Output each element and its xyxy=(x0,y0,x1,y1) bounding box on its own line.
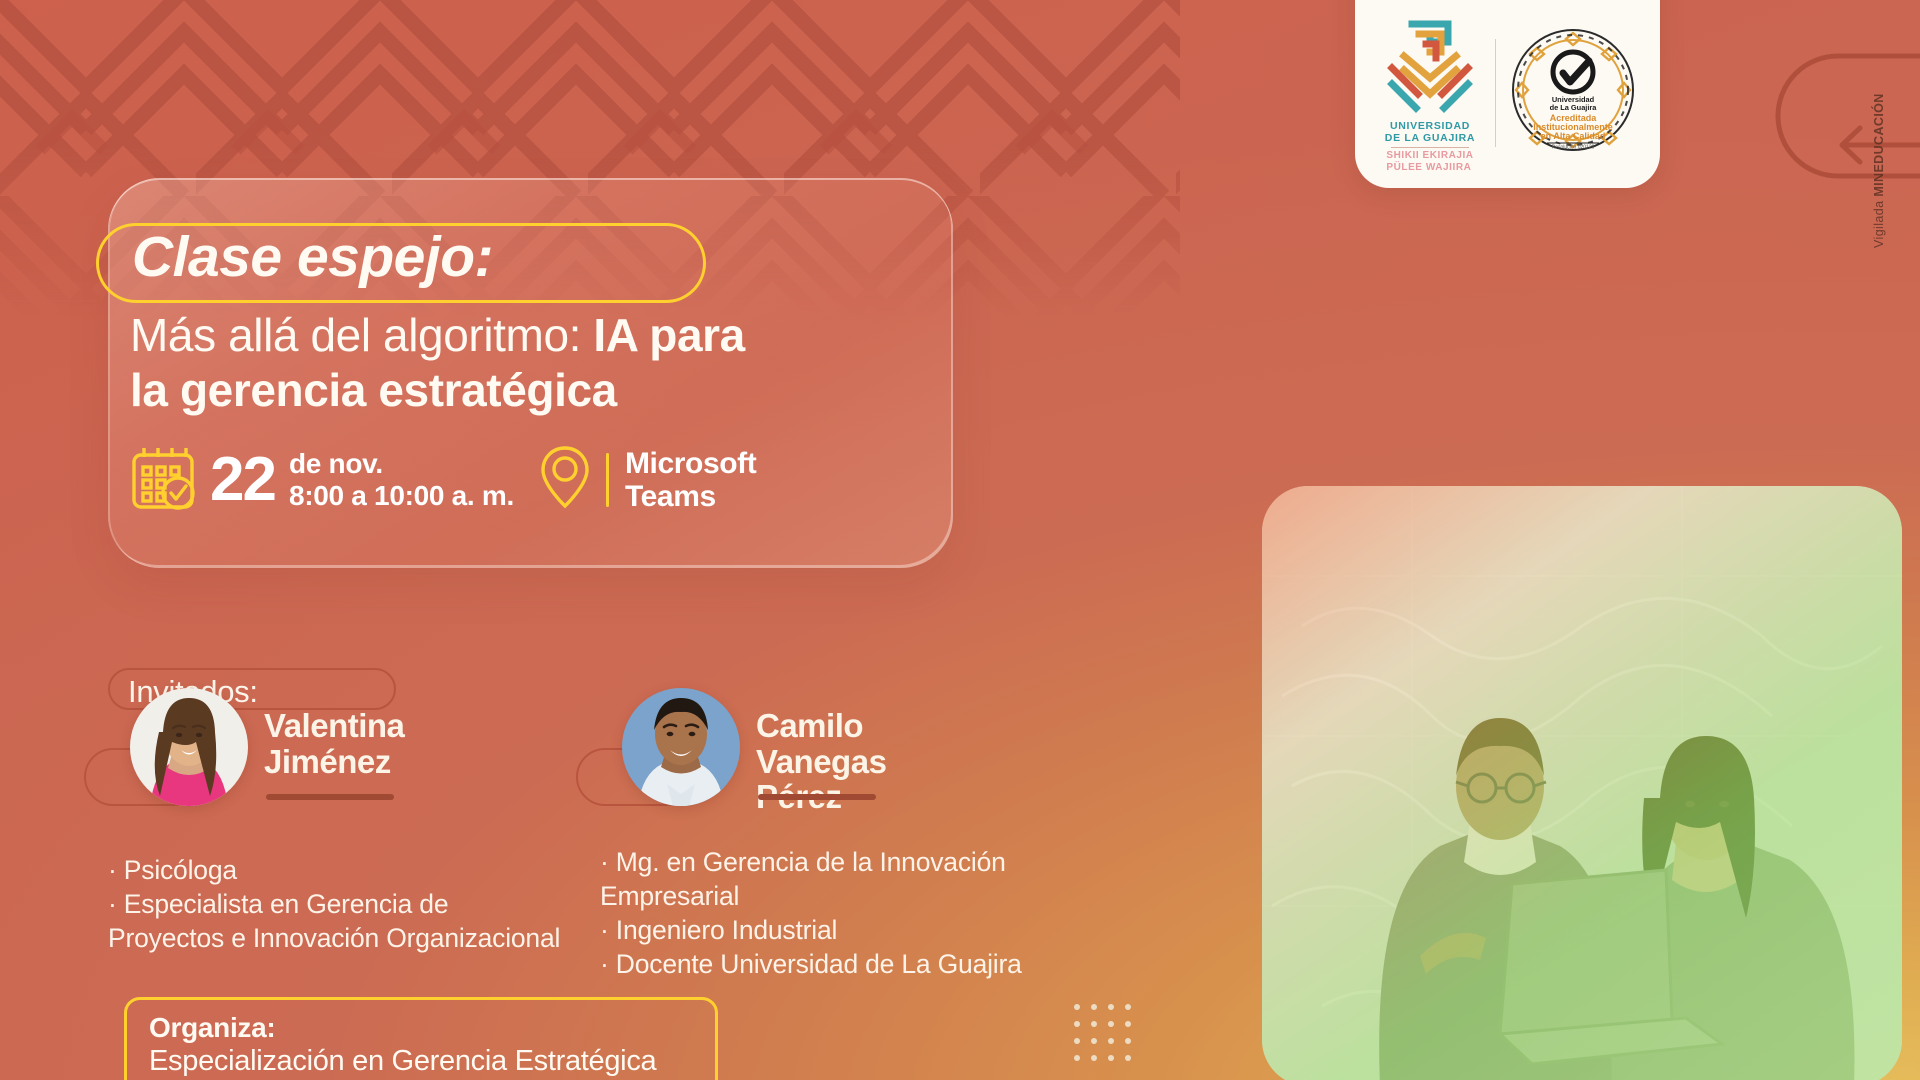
vigilada-main: MINEDUCACIÓN xyxy=(1872,93,1886,196)
speaker2-name-underline xyxy=(758,794,876,800)
place-separator xyxy=(606,453,609,507)
map-pin-icon xyxy=(540,445,590,514)
uniguajira-weave-logo-icon: UNIVERSIDAD DE LA GUAJIRA SHIKII EKIRAJI… xyxy=(1378,12,1482,174)
event-meta-row: 22 de nov. 8:00 a 10:00 a. m. Microsoft … xyxy=(130,443,756,516)
seal-line2: de La Guajira xyxy=(1550,103,1598,112)
speaker2-name-line1: Camilo Vanegas xyxy=(756,708,886,779)
university-name-line2: DE LA GUAJIRA xyxy=(1385,133,1475,145)
event-title-line1: Más allá del algoritmo: IA para xyxy=(130,308,745,362)
speaker1-name-line2: Jiménez xyxy=(264,744,404,780)
event-place-line1: Microsoft xyxy=(625,447,756,480)
speaker1-name-line1: Valentina xyxy=(264,708,404,744)
avatar-valentina-jimenez xyxy=(130,688,248,806)
event-date-block: 22 de nov. 8:00 a 10:00 a. m. xyxy=(130,443,514,516)
event-title-line1-regular: Más allá del algoritmo: xyxy=(130,309,593,361)
university-logo-card: UNIVERSIDAD DE LA GUAJIRA SHIKII EKIRAJI… xyxy=(1355,0,1660,188)
event-month: de nov. xyxy=(289,448,514,479)
event-place-block: Microsoft Teams xyxy=(540,445,756,514)
university-name: UNIVERSIDAD DE LA GUAJIRA xyxy=(1385,121,1475,145)
vigilada-mineducacion-label: Vigilada MINEDUCACIÓN xyxy=(1872,93,1886,248)
accreditation-check-seal-icon: Universidad de La Guajira Acreditada Ins… xyxy=(1509,26,1637,159)
wayuu-name-line1: SHIKII EKIRAJIA xyxy=(1386,150,1473,162)
seal-resolution-1: Resolución 020120 xyxy=(1552,145,1595,151)
photo-warm-tint xyxy=(1262,486,1902,1080)
avatar-camilo-vanegas-perez xyxy=(622,688,740,806)
left-arrow-pill-icon xyxy=(1742,28,1920,209)
university-wayuu-name: SHIKII EKIRAJIA PÜLEE WAJIIRA xyxy=(1386,150,1473,174)
speaker1-name-underline xyxy=(266,794,394,800)
two-professionals-with-laptop-photo xyxy=(1262,486,1902,1080)
event-title-line2: la gerencia estratégica xyxy=(130,363,617,417)
speaker-name-valentina-jimenez: Valentina Jiménez xyxy=(264,708,404,779)
speaker2-credentials: · Mg. en Gerencia de la Innovación Empre… xyxy=(600,846,1160,982)
dot-grid-icon xyxy=(1073,1003,1133,1068)
poster-root: Vigilada MINEDUCACIÓN UNIVER xyxy=(0,0,1920,1080)
wayuu-name-line2: PÜLEE WAJIIRA xyxy=(1386,162,1473,174)
event-kicker: Clase espejo: xyxy=(132,224,493,290)
event-title-line1-bold: IA para xyxy=(593,309,744,361)
seal-line5: en Alta Calidad xyxy=(1541,131,1606,141)
event-title-card: Clase espejo: Más allá del algoritmo: IA… xyxy=(108,178,953,568)
organizer-label: Organiza: xyxy=(149,1012,715,1044)
event-day-number: 22 xyxy=(210,451,275,508)
logo-vertical-divider xyxy=(1495,39,1496,147)
calendar-check-icon xyxy=(130,443,196,516)
university-name-line1: UNIVERSIDAD xyxy=(1385,121,1475,133)
organizer-box: Organiza: Especialización en Gerencia Es… xyxy=(124,997,718,1080)
logo-divider-rule xyxy=(1391,147,1469,148)
vigilada-prefix: Vigilada xyxy=(1872,197,1886,248)
event-place-line2: Teams xyxy=(625,480,756,513)
event-time: 8:00 a 10:00 a. m. xyxy=(289,480,514,511)
organizer-program: Especialización en Gerencia Estratégica xyxy=(149,1045,715,1078)
